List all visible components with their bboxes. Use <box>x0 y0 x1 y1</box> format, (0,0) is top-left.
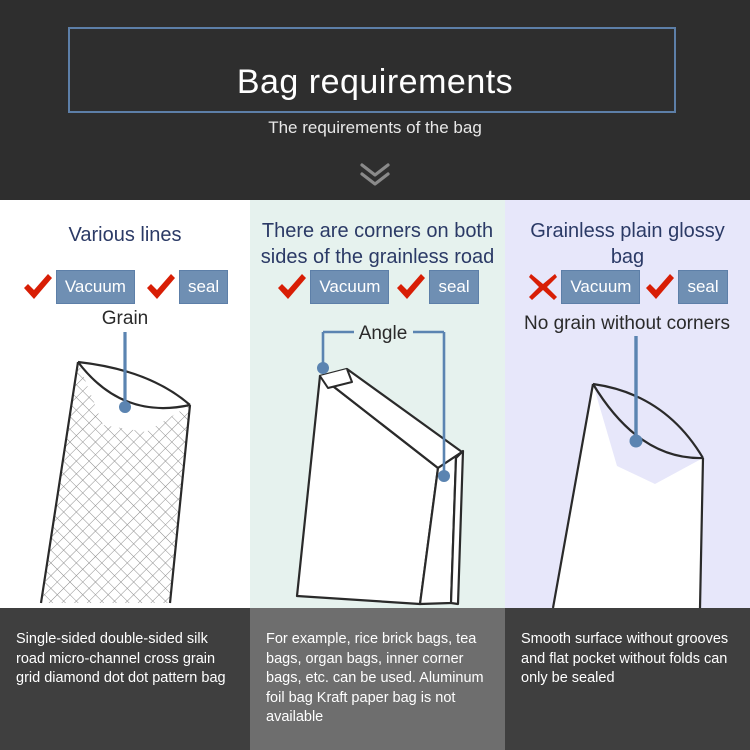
check-icon <box>276 272 308 302</box>
infographic-page: Bag requirements The requirements of the… <box>0 0 750 750</box>
check-icon <box>644 272 676 302</box>
illustration-grid-grain-bag: Grain <box>0 308 250 608</box>
column-corners-both-sides: There are corners on both sides of the g… <box>250 200 505 608</box>
caption-corners-both-sides: For example, rice brick bags, tea bags, … <box>250 608 505 750</box>
column-various-lines: Various lines Vacuum seal <box>0 200 250 608</box>
caption-grainless-glossy: Smooth surface without grooves and flat … <box>505 608 750 750</box>
badge-seal[interactable]: seal <box>678 270 727 304</box>
comparison-columns: Various lines Vacuum seal <box>0 200 750 608</box>
illustration-plain-smooth-bag: No grain without corners <box>505 308 750 608</box>
page-title: Bag requirements <box>0 62 750 102</box>
caption-text: Single-sided double-sided silk road micr… <box>16 630 236 689</box>
column-heading: Grainless plain glossy bag <box>505 218 750 270</box>
header-banner: Bag requirements The requirements of the… <box>0 0 750 200</box>
check-icon <box>395 272 427 302</box>
column-heading: Various lines <box>0 222 250 248</box>
badge-seal[interactable]: seal <box>179 270 228 304</box>
caption-bar: Single-sided double-sided silk road micr… <box>0 608 750 750</box>
check-icon <box>22 272 54 302</box>
caption-various-lines: Single-sided double-sided silk road micr… <box>0 608 250 750</box>
caption-text: Smooth surface without grooves and flat … <box>521 630 736 689</box>
callout-label-grain: Grain <box>102 308 148 329</box>
column-grainless-glossy: Grainless plain glossy bag Vacuum seal <box>505 200 750 608</box>
badge-row: Vacuum seal <box>505 270 750 304</box>
callout-label-angle: Angle <box>359 323 408 344</box>
illustration-gusseted-corner-bag: Angle <box>250 308 505 608</box>
badge-row: Vacuum seal <box>0 270 250 304</box>
badge-vacuum[interactable]: Vacuum <box>56 270 135 304</box>
caption-text: For example, rice brick bags, tea bags, … <box>266 630 491 728</box>
badge-vacuum[interactable]: Vacuum <box>561 270 640 304</box>
column-heading: There are corners on both sides of the g… <box>250 218 505 270</box>
page-subtitle: The requirements of the bag <box>0 117 750 139</box>
chevron-double-down-icon <box>0 160 750 190</box>
cross-icon <box>527 272 559 302</box>
badge-vacuum[interactable]: Vacuum <box>310 270 389 304</box>
badge-row: Vacuum seal <box>250 270 505 304</box>
check-icon <box>145 272 177 302</box>
badge-seal[interactable]: seal <box>429 270 478 304</box>
callout-label-no-grain: No grain without corners <box>524 313 730 334</box>
